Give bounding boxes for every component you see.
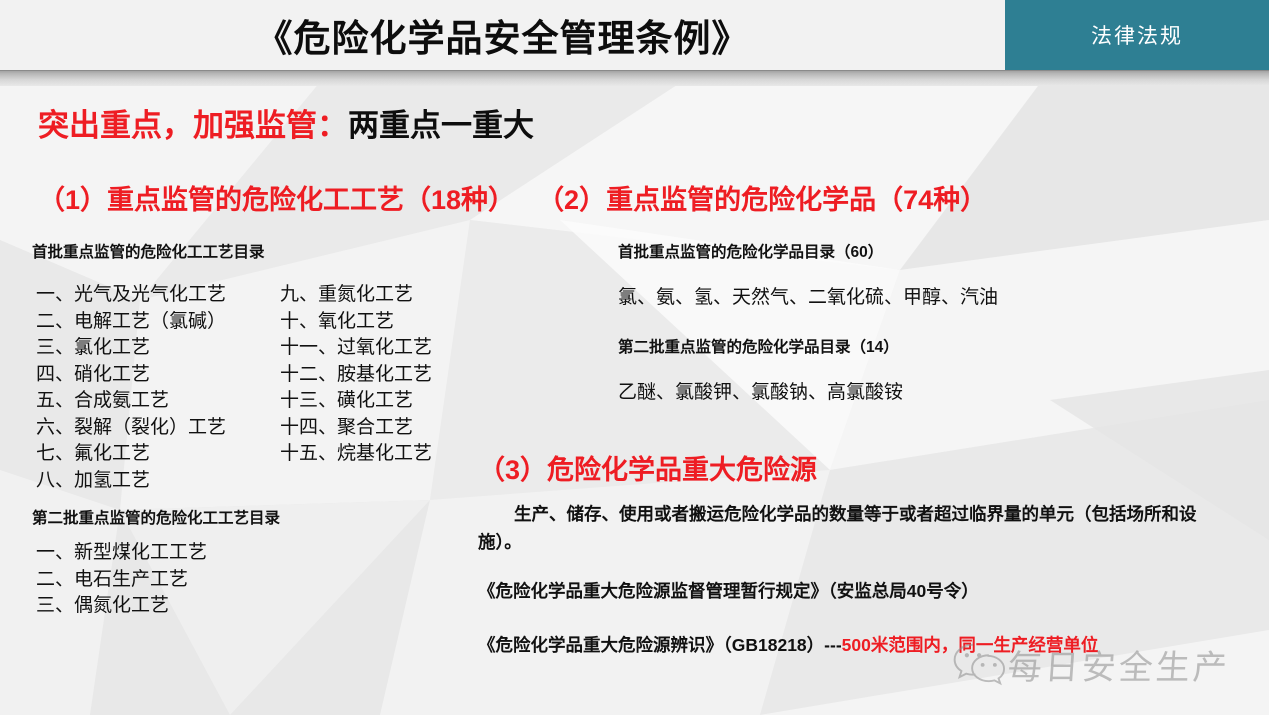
- list-item: 三、氯化工艺: [36, 335, 226, 362]
- list-item: 一、光气及光气化工艺: [36, 282, 226, 309]
- left-second-batch-title: 第二批重点监管的危险化工工艺目录: [32, 506, 280, 528]
- process-list-column-b: 九、重氮化工艺 十、氧化工艺 十一、过氧化工艺 十二、胺基化工艺 十三、磺化工艺…: [280, 282, 432, 468]
- list-item: 二、电解工艺（氯碱）: [36, 309, 226, 336]
- process-lists: 一、光气及光气化工艺 二、电解工艺（氯碱） 三、氯化工艺 四、硝化工艺 五、合成…: [32, 282, 502, 482]
- list-item: 四、硝化工艺: [36, 362, 226, 389]
- regulation-line-1: 《危险化学品重大危险源监督管理暂行规定》（安监总局40号令）: [478, 578, 979, 603]
- right-first-batch-list: 氯、氨、氢、天然气、二氧化硫、甲醇、汽油: [618, 282, 1238, 309]
- main-heading-red: 突出重点，加强监管：: [38, 108, 348, 143]
- section2-heading: （2）重点监管的危险化学品（74种）: [537, 185, 987, 215]
- right-column: 首批重点监管的危险化学品目录（60） 氯、氨、氢、天然气、二氧化硫、甲醇、汽油 …: [618, 240, 1238, 404]
- list-item: 二、电石生产工艺: [36, 567, 207, 594]
- list-item: 一、新型煤化工工艺: [36, 540, 207, 567]
- right-first-batch-title: 首批重点监管的危险化学品目录（60）: [618, 240, 1238, 262]
- regulation-line-2: 《危险化学品重大危险源辨识》（GB18218）---500米范围内，同一生产经营…: [478, 632, 1098, 657]
- right-second-batch-list: 乙醚、氯酸钾、氯酸钠、高氯酸铵: [618, 377, 1238, 404]
- list-item: 十三、磺化工艺: [280, 388, 432, 415]
- main-heading: 突出重点，加强监管：两重点一重大: [38, 100, 534, 145]
- main-heading-black: 两重点一重大: [348, 108, 534, 143]
- list-item: 六、裂解（裂化）工艺: [36, 415, 226, 442]
- list-item: 十二、胺基化工艺: [280, 362, 432, 389]
- left-first-batch-title: 首批重点监管的危险化工工艺目录: [32, 240, 502, 262]
- page-title: 《危险化学品安全管理条例》: [0, 0, 1005, 70]
- section-headings-row: （1）重点监管的危险化工工艺（18种）（2）重点监管的危险化学品（74种）: [38, 178, 987, 217]
- list-item: 五、合成氨工艺: [36, 388, 226, 415]
- list-item: 七、氟化工艺: [36, 441, 226, 468]
- list-item: 十一、过氧化工艺: [280, 335, 432, 362]
- process-list-column-a: 一、光气及光气化工艺 二、电解工艺（氯碱） 三、氯化工艺 四、硝化工艺 五、合成…: [36, 282, 226, 494]
- regulation2-prefix: 《危险化学品重大危险源辨识》（GB18218）---: [478, 635, 842, 655]
- list-item: 九、重氮化工艺: [280, 282, 432, 309]
- section3-paragraph: 生产、储存、使用或者搬运危险化学品的数量等于或者超过临界量的单元（包括场所和设施…: [478, 500, 1234, 556]
- section1-heading: （1）重点监管的危险化工工艺（18种）: [38, 185, 515, 215]
- list-item: 十四、聚合工艺: [280, 415, 432, 442]
- category-badge: 法律法规: [1005, 0, 1269, 70]
- right-second-batch-title: 第二批重点监管的危险化学品目录（14）: [618, 335, 1238, 357]
- regulation2-highlight: 500米范围内，同一生产经营单位: [842, 635, 1099, 655]
- slide-root: 《危险化学品安全管理条例》 法律法规 突出重点，加强监管：两重点一重大 （1）重…: [0, 0, 1269, 715]
- list-item: 三、偶氮化工艺: [36, 593, 207, 620]
- slide-header: 《危险化学品安全管理条例》 法律法规: [0, 0, 1269, 70]
- list-item: 八、加氢工艺: [36, 468, 226, 495]
- list-item: 十五、烷基化工艺: [280, 441, 432, 468]
- second-batch-list: 一、新型煤化工工艺 二、电石生产工艺 三、偶氮化工艺: [36, 540, 207, 620]
- left-column: 首批重点监管的危险化工工艺目录 一、光气及光气化工艺 二、电解工艺（氯碱） 三、…: [32, 240, 502, 482]
- slide-content: 突出重点，加强监管：两重点一重大 （1）重点监管的危险化工工艺（18种）（2）重…: [0, 70, 1269, 715]
- section3-heading: （3）危险化学品重大危险源: [478, 448, 817, 487]
- list-item: 十、氧化工艺: [280, 309, 432, 336]
